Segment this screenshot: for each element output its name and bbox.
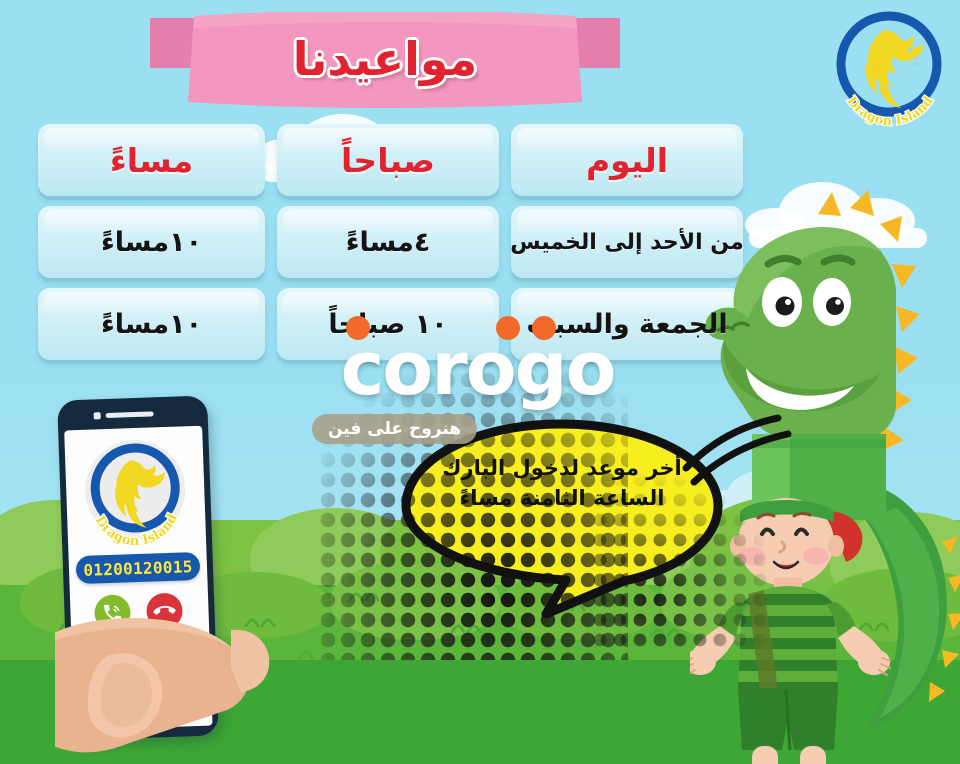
bubble-line-2: الساعة الثامنة مساءً: [426, 484, 698, 514]
watermark-tagline: هنروح على فين: [312, 414, 477, 444]
dragon-island-logo: Dragon Island: [827, 8, 952, 130]
phone-logo: Dragon Island: [77, 436, 193, 550]
header-cell-morning: صباحاً: [277, 124, 499, 196]
hand-holding-phone: [55, 548, 305, 764]
phone-in-hand: Dragon Island 01200120015: [55, 398, 315, 764]
dragon-logo-icon: Dragon Island: [77, 436, 193, 550]
banner-title: مواعيدنا: [150, 28, 620, 90]
evening-time-row2: ١٠مساءً: [101, 309, 202, 340]
dragon-logo-icon: Dragon Island: [827, 8, 952, 130]
header-cell-evening: مساءً: [38, 124, 265, 196]
header-day-label: اليوم: [586, 141, 668, 180]
header-evening-label: مساءً: [110, 141, 193, 180]
poster-canvas: Dragon Island مواعيدنا مساءً صباحاً اليو…: [0, 0, 960, 764]
table-row: ١٠مساءً ٤مساءً من الأحد إلى الخميس: [38, 206, 743, 278]
evening-time-row1: ١٠مساءً: [101, 227, 202, 258]
banner: مواعيدنا: [150, 12, 620, 112]
dragon-tail: [856, 490, 960, 730]
phone-camera-icon: [94, 412, 101, 419]
header-morning-label: صباحاً: [341, 141, 435, 180]
cell-evening-row1: ١٠مساءً: [38, 206, 265, 278]
day-label-row1: من الأحد إلى الخميس: [511, 230, 743, 255]
morning-time-row1: ٤مساءً: [346, 227, 431, 258]
bubble-text-block: أخر موعد لدخول البارك الساعة الثامنة مسا…: [426, 454, 698, 514]
watermark: corogo هنروح على فين: [300, 330, 655, 460]
header-cell-day: اليوم: [511, 124, 743, 196]
schedule-header-row: مساءً صباحاً اليوم: [38, 124, 743, 196]
phone-speaker-grill: [106, 411, 154, 418]
cell-morning-row1: ٤مساءً: [277, 206, 499, 278]
cell-evening-row2: ١٠مساءً: [38, 288, 265, 360]
watermark-text: corogo: [300, 330, 655, 408]
